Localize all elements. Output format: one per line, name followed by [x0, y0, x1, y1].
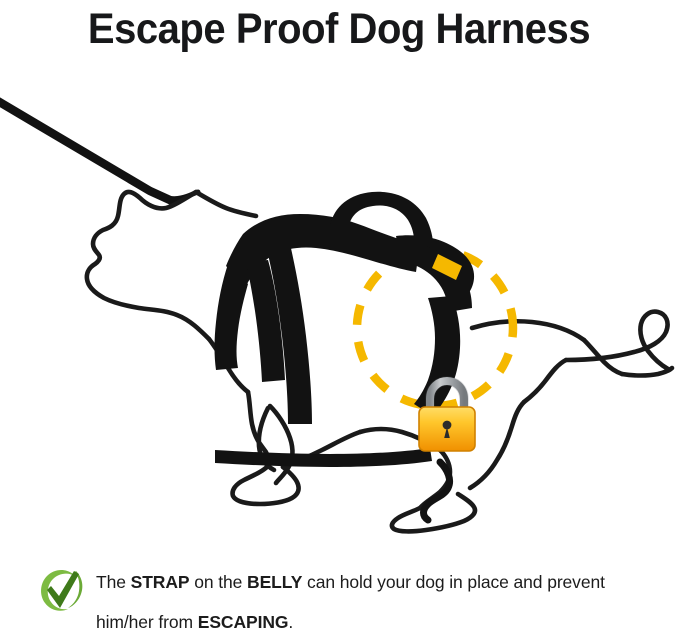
- check-icon-glyph: [38, 567, 84, 613]
- caption-line1-bold-belly: BELLY: [247, 572, 302, 592]
- caption-text: The STRAP on the BELLY can hold your dog…: [96, 562, 668, 642]
- dog-harness-illustration: [0, 58, 679, 548]
- title-bar: Escape Proof Dog Harness: [0, 0, 679, 58]
- caption-line1-seg3: can hold your dog in place and prevent: [302, 572, 605, 592]
- harness-straps: [215, 192, 475, 520]
- leash-line: [0, 100, 198, 201]
- caption-line1-seg2: on the: [189, 572, 247, 592]
- caption-line2-bold-escaping: ESCAPING: [198, 612, 289, 632]
- caption-block: The STRAP on the BELLY can hold your dog…: [0, 556, 679, 644]
- page-title: Escape Proof Dog Harness: [88, 6, 590, 52]
- caption-line2-seg1: him/her from: [96, 612, 198, 632]
- product-feature-graphic: Escape Proof Dog Harness: [0, 0, 679, 644]
- illustration-area: [0, 58, 679, 548]
- caption-line1-bold-strap: STRAP: [131, 572, 190, 592]
- green-check-icon: [38, 567, 84, 613]
- caption-line1-seg1: The: [96, 572, 131, 592]
- caption-line2-seg2: .: [288, 612, 293, 632]
